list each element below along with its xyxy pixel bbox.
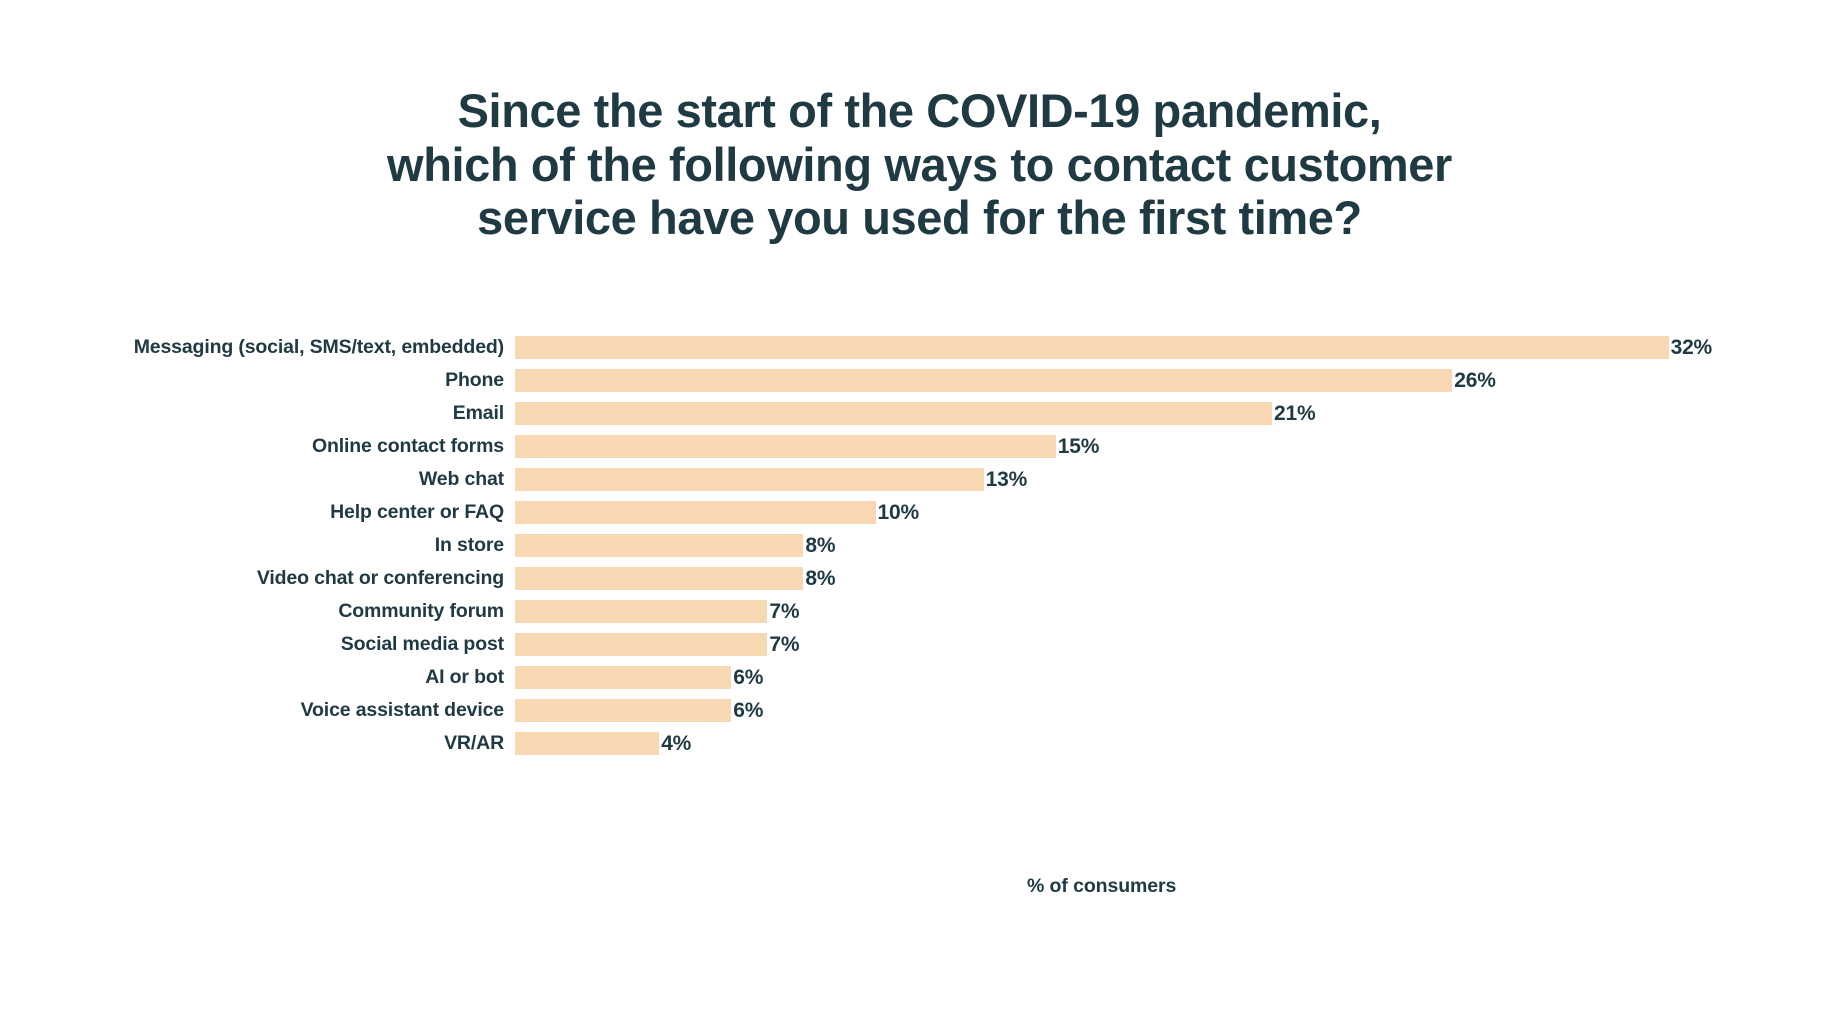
bar-track: 6% — [515, 699, 1839, 722]
bar-value-label: 21% — [1272, 402, 1315, 425]
bar-value-label: 13% — [984, 468, 1027, 491]
bar-row: Phone 26% — [0, 369, 1839, 402]
bar-video-chat-or-conferencing — [515, 567, 803, 590]
bar-row: In store 8% — [0, 534, 1839, 567]
bar-row: AI or bot 6% — [0, 666, 1839, 699]
bar-email — [515, 402, 1272, 425]
bar-value-label: 8% — [803, 534, 835, 557]
chart-canvas: Since the start of the COVID-19 pandemic… — [0, 0, 1839, 1024]
category-label: VR/AR — [0, 732, 515, 755]
category-label: AI or bot — [0, 666, 515, 689]
bar-track: 32% — [515, 336, 1839, 359]
bar-track: 15% — [515, 435, 1839, 458]
category-label: Phone — [0, 369, 515, 392]
bar-value-label: 8% — [803, 567, 835, 590]
bar-value-label: 7% — [767, 633, 799, 656]
category-label: Video chat or conferencing — [0, 567, 515, 590]
bar-track: 6% — [515, 666, 1839, 689]
bar-row: Web chat 13% — [0, 468, 1839, 501]
bar-track: 21% — [515, 402, 1839, 425]
bar-voice-assistant-device — [515, 699, 731, 722]
bar-value-label: 7% — [767, 600, 799, 623]
category-label: Voice assistant device — [0, 699, 515, 722]
bar-row: Video chat or conferencing 8% — [0, 567, 1839, 600]
bar-value-label: 26% — [1452, 369, 1495, 392]
bar-value-label: 4% — [659, 732, 691, 755]
bar-ai-or-bot — [515, 666, 731, 689]
category-label: Community forum — [0, 600, 515, 623]
bar-row: Messaging (social, SMS/text, embedded) 3… — [0, 336, 1839, 369]
bar-social-media-post — [515, 633, 767, 656]
bar-messaging — [515, 336, 1669, 359]
chart-title-line-1: Since the start of the COVID-19 pandemic… — [200, 84, 1639, 138]
bar-row: Voice assistant device 6% — [0, 699, 1839, 732]
chart-title-line-2: which of the following ways to contact c… — [200, 138, 1639, 192]
bar-row: Help center or FAQ 10% — [0, 501, 1839, 534]
bar-value-label: 6% — [731, 699, 763, 722]
bar-row: Community forum 7% — [0, 600, 1839, 633]
bar-track: 7% — [515, 633, 1839, 656]
bar-track: 4% — [515, 732, 1839, 755]
bar-track: 10% — [515, 501, 1839, 524]
bar-phone — [515, 369, 1452, 392]
bar-value-label: 6% — [731, 666, 763, 689]
bar-row: Email 21% — [0, 402, 1839, 435]
bar-row: Online contact forms 15% — [0, 435, 1839, 468]
bar-in-store — [515, 534, 803, 557]
category-label: Messaging (social, SMS/text, embedded) — [0, 336, 515, 359]
chart-title: Since the start of the COVID-19 pandemic… — [0, 84, 1839, 245]
x-axis-label: % of consumers — [1027, 875, 1176, 898]
chart-title-line-3: service have you used for the first time… — [200, 191, 1639, 245]
bar-row: Social media post 7% — [0, 633, 1839, 666]
bar-chart-plot-area: Messaging (social, SMS/text, embedded) 3… — [0, 336, 1839, 765]
category-label: Online contact forms — [0, 435, 515, 458]
category-label: Social media post — [0, 633, 515, 656]
bar-online-contact-forms — [515, 435, 1056, 458]
category-label: Help center or FAQ — [0, 501, 515, 524]
bar-value-label: 10% — [876, 501, 919, 524]
bar-track: 26% — [515, 369, 1839, 392]
bar-community-forum — [515, 600, 767, 623]
bar-track: 7% — [515, 600, 1839, 623]
bar-value-label: 32% — [1669, 336, 1712, 359]
bar-value-label: 15% — [1056, 435, 1099, 458]
bar-web-chat — [515, 468, 984, 491]
category-label: Email — [0, 402, 515, 425]
bar-track: 13% — [515, 468, 1839, 491]
bar-help-center-or-faq — [515, 501, 876, 524]
bar-row: VR/AR 4% — [0, 732, 1839, 765]
category-label: Web chat — [0, 468, 515, 491]
bar-track: 8% — [515, 534, 1839, 557]
bar-track: 8% — [515, 567, 1839, 590]
bar-vr-ar — [515, 732, 659, 755]
category-label: In store — [0, 534, 515, 557]
